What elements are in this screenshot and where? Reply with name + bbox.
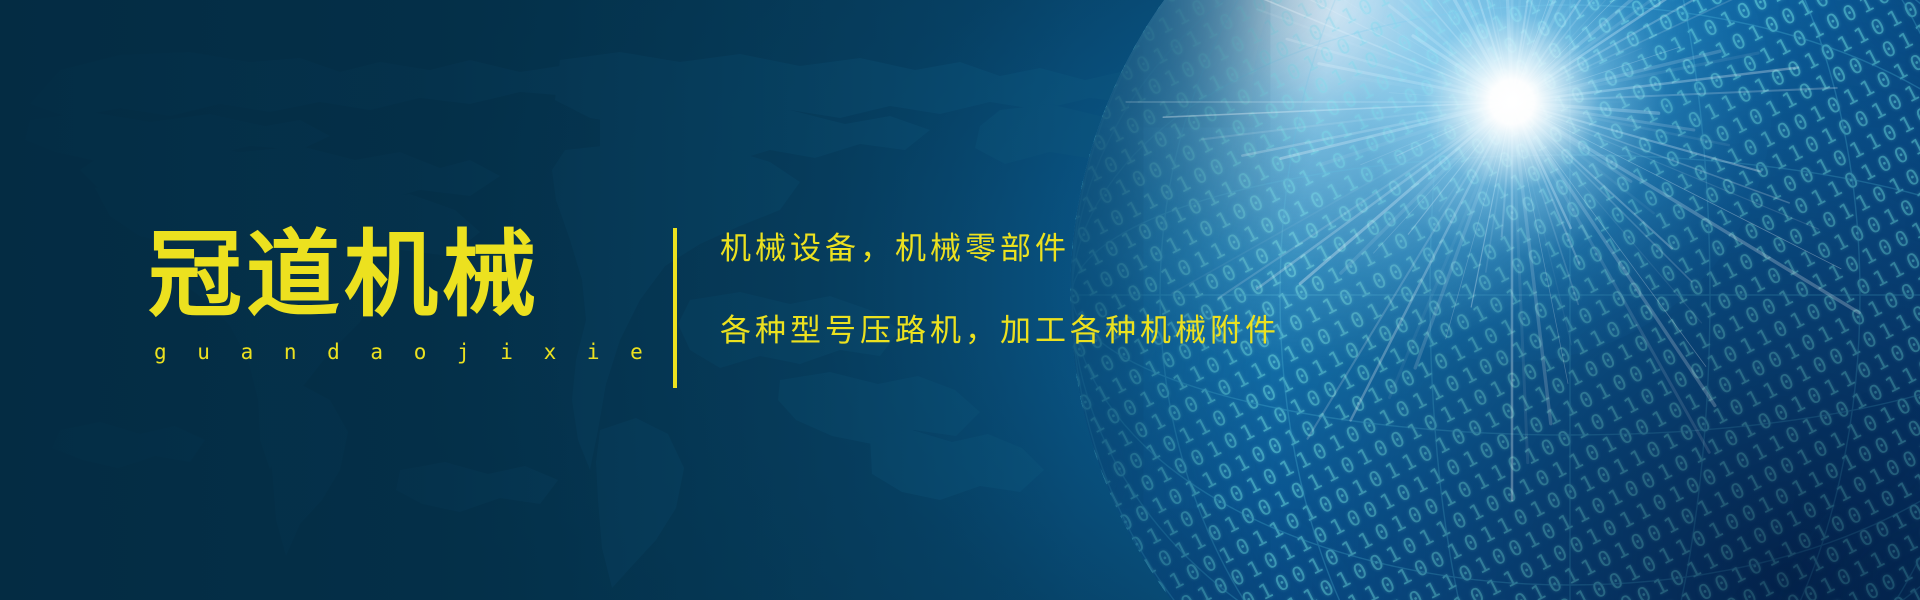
brand-name-pinyin: g u a n d a o j i x i e (154, 340, 568, 364)
brand-name-cn: 冠道机械 (148, 228, 568, 324)
tagline-block: 机械设备，机械零部件 各种型号压路机，加工各种机械附件 (720, 232, 1280, 348)
promo-banner: 1001011010010110100101101001011010010110… (0, 0, 1920, 600)
sun-flare-burst (1512, 102, 1514, 104)
brand-block: 冠道机械 g u a n d a o j i x i e (148, 228, 568, 364)
tagline-secondary: 各种型号压路机，加工各种机械附件 (720, 314, 1280, 348)
vertical-divider (673, 228, 677, 388)
tagline-primary: 机械设备，机械零部件 (720, 232, 1280, 266)
